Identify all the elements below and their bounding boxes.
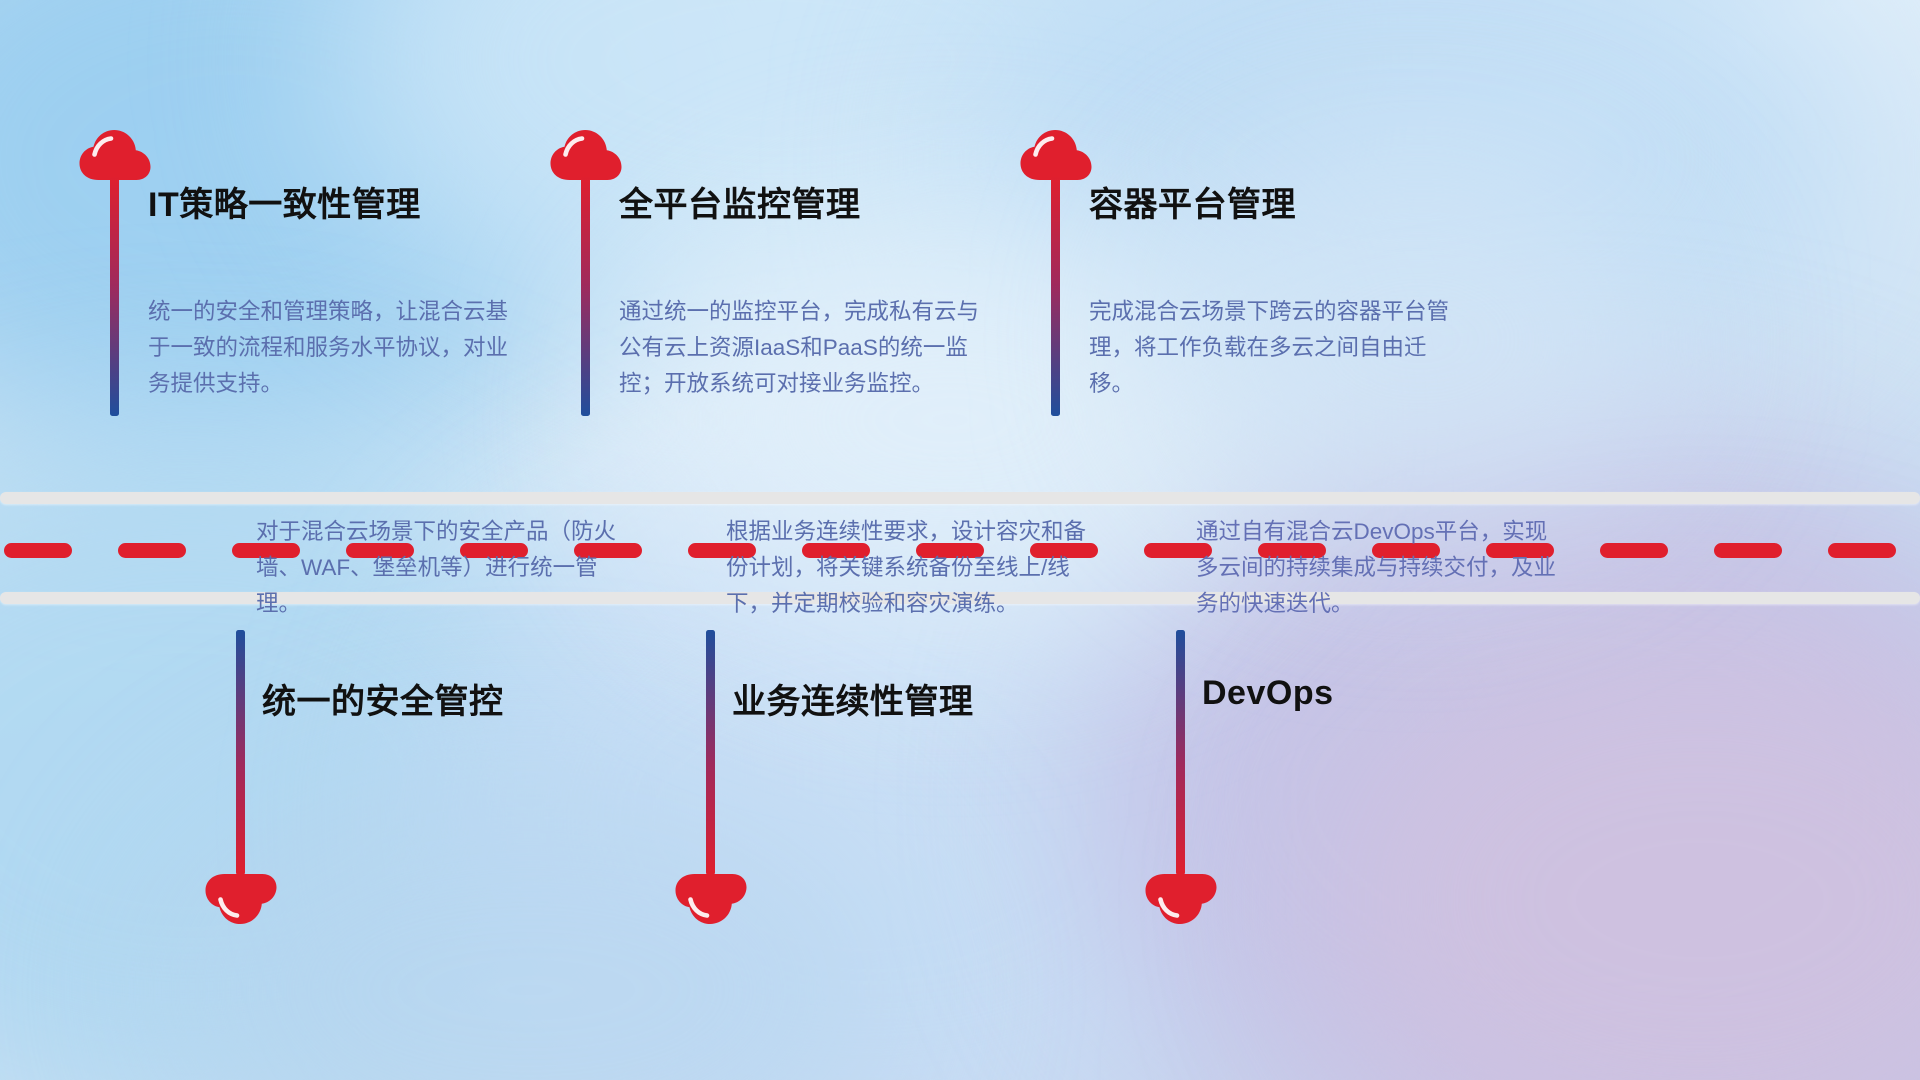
infographic-canvas: IT策略一致性管理 统一的安全和管理策略，让混合云基于一致的流程和服务水平协议，… <box>0 0 1920 1080</box>
card-body: 根据业务连续性要求，设计容灾和备份计划，将关键系统备份至线上/线下，并定期校验和… <box>726 514 1096 622</box>
cloud-icon <box>204 870 278 926</box>
card-title: IT策略一致性管理 <box>148 177 421 226</box>
card-body: 完成混合云场景下跨云的容器平台管理，将工作负载在多云之间自由迁移。 <box>1089 294 1459 402</box>
card-body: 统一的安全和管理策略，让混合云基于一致的流程和服务水平协议，对业务提供支持。 <box>148 294 518 402</box>
marker-stem <box>706 630 715 875</box>
road-dash <box>118 543 186 558</box>
cloud-icon <box>674 870 748 926</box>
road-dash <box>1714 543 1782 558</box>
card-title: DevOps <box>1202 674 1334 713</box>
marker-stem <box>110 176 119 416</box>
card-title: 容器平台管理 <box>1089 177 1296 226</box>
card-body: 通过自有混合云DevOps平台，实现多云间的持续集成与持续交付，及业务的快速迭代… <box>1196 514 1566 622</box>
cloud-icon <box>1144 870 1218 926</box>
road-dash <box>1600 543 1668 558</box>
card-title: 统一的安全管控 <box>262 674 504 723</box>
card-title: 全平台监控管理 <box>619 177 861 226</box>
card-body: 对于混合云场景下的安全产品（防火墙、WAF、堡垒机等）进行统一管理。 <box>256 514 626 622</box>
marker-stem <box>236 630 245 875</box>
marker-stem <box>1051 176 1060 416</box>
road-dash <box>1828 543 1896 558</box>
card-body: 通过统一的监控平台，完成私有云与公有云上资源IaaS和PaaS的统一监控；开放系… <box>619 294 989 402</box>
road-dash <box>4 543 72 558</box>
road-edge-top <box>0 492 1920 504</box>
marker-stem <box>581 176 590 416</box>
card-title: 业务连续性管理 <box>732 674 974 723</box>
marker-stem <box>1176 630 1185 875</box>
